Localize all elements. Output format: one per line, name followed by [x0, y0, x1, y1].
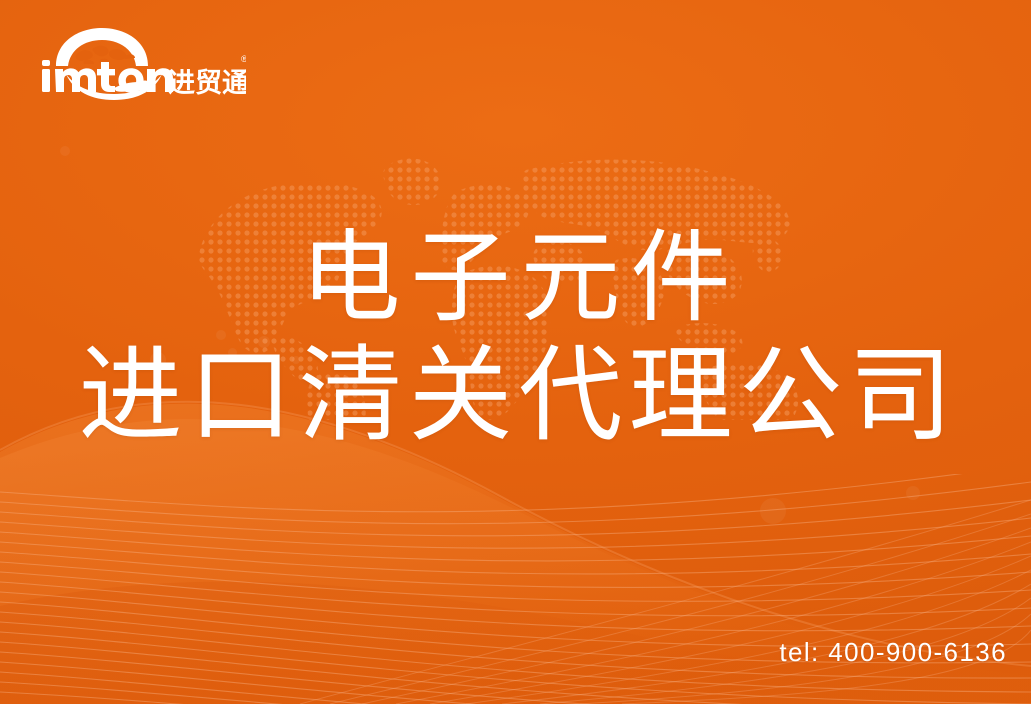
headline-line-1: 电子元件 — [0, 228, 1031, 328]
globe-dome-icon — [56, 28, 148, 66]
imton-logo[interactable]: 进贸通 ® — [36, 26, 246, 106]
promo-banner: 进贸通 ® 电子元件 进口清关代理公司 tel: 400-900-6136 — [0, 0, 1031, 704]
page-title: 电子元件 进口清关代理公司 — [0, 228, 1031, 448]
trademark-symbol: ® — [241, 54, 246, 64]
telephone-number[interactable]: tel: 400-900-6136 — [779, 637, 1007, 668]
logo-chinese-text: 进贸通 — [168, 68, 246, 99]
headline-line-2: 进口清关代理公司 — [0, 344, 1031, 448]
